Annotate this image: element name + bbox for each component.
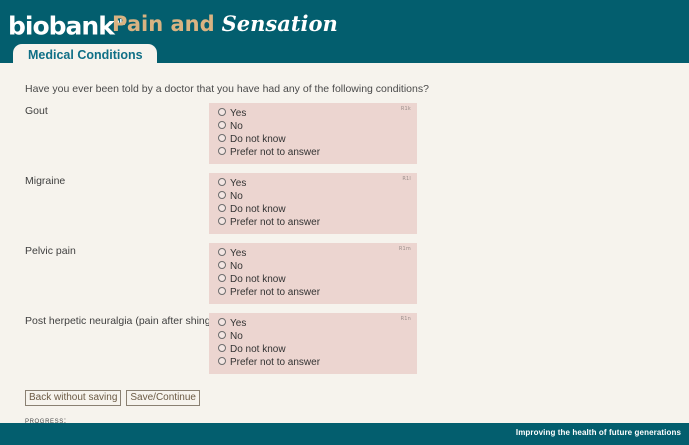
- radio-button-icon[interactable]: [218, 261, 226, 269]
- page-title-part1: Pain and: [112, 12, 215, 36]
- radio-option[interactable]: Prefer not to answer: [209, 146, 417, 159]
- back-without-saving-button[interactable]: Back without saving: [25, 390, 121, 406]
- radio-option-label: Do not know: [230, 204, 286, 215]
- radio-button-icon[interactable]: [218, 121, 226, 129]
- answer-options-group: R1kYesNoDo not knowPrefer not to answer: [209, 103, 417, 164]
- question-label: Migraine: [25, 175, 65, 187]
- radio-button-icon[interactable]: [218, 248, 226, 256]
- question-label: Post herpetic neuralgia (pain after shin…: [25, 315, 228, 327]
- page-title-part2: Sensation: [222, 11, 338, 36]
- footer-tagline: Improving the health of future generatio…: [516, 428, 681, 437]
- answer-options-group: R1nYesNoDo not knowPrefer not to answer: [209, 313, 417, 374]
- radio-option-label: Prefer not to answer: [230, 147, 320, 158]
- radio-button-icon[interactable]: [218, 178, 226, 186]
- radio-button-icon[interactable]: [218, 134, 226, 142]
- uk-biobank-logo: biobankuk: [8, 10, 125, 39]
- questionnaire-panel: Have you ever been told by a doctor that…: [0, 62, 689, 423]
- radio-option-label: Prefer not to answer: [230, 287, 320, 298]
- radio-option[interactable]: No: [209, 330, 417, 343]
- page-footer: Improving the health of future generatio…: [0, 423, 689, 445]
- radio-option[interactable]: No: [209, 190, 417, 203]
- radio-option[interactable]: Do not know: [209, 343, 417, 356]
- tab-label: Medical Conditions: [28, 48, 143, 62]
- answer-options-group: R1lYesNoDo not knowPrefer not to answer: [209, 173, 417, 234]
- answer-options-group: R1mYesNoDo not knowPrefer not to answer: [209, 243, 417, 304]
- radio-button-icon[interactable]: [218, 217, 226, 225]
- radio-option[interactable]: Yes: [209, 107, 417, 120]
- page-title: Pain andSensation: [112, 11, 338, 41]
- radio-option-label: Prefer not to answer: [230, 217, 320, 228]
- radio-button-icon[interactable]: [218, 191, 226, 199]
- radio-option[interactable]: Yes: [209, 177, 417, 190]
- radio-option-label: Do not know: [230, 274, 286, 285]
- radio-button-icon[interactable]: [218, 287, 226, 295]
- radio-button-icon[interactable]: [218, 318, 226, 326]
- question-label: Gout: [25, 105, 48, 117]
- radio-option[interactable]: Yes: [209, 247, 417, 260]
- radio-option-label: Do not know: [230, 344, 286, 355]
- radio-button-icon[interactable]: [218, 108, 226, 116]
- radio-option-label: Yes: [230, 318, 246, 329]
- radio-option[interactable]: Do not know: [209, 273, 417, 286]
- radio-option[interactable]: No: [209, 120, 417, 133]
- radio-option[interactable]: Prefer not to answer: [209, 216, 417, 229]
- radio-option-label: No: [230, 121, 243, 132]
- radio-option[interactable]: Yes: [209, 317, 417, 330]
- radio-option[interactable]: Prefer not to answer: [209, 286, 417, 299]
- logo-wordmark: biobank: [8, 11, 114, 40]
- radio-option[interactable]: Do not know: [209, 203, 417, 216]
- radio-button-icon[interactable]: [218, 274, 226, 282]
- radio-option-label: Yes: [230, 178, 246, 189]
- radio-button-icon[interactable]: [218, 357, 226, 365]
- radio-option-label: Do not know: [230, 134, 286, 145]
- intro-question-text: Have you ever been told by a doctor that…: [25, 83, 429, 95]
- form-buttons: Back without savingSave/Continue: [25, 390, 205, 406]
- save-continue-button[interactable]: Save/Continue: [126, 390, 200, 406]
- radio-option[interactable]: Prefer not to answer: [209, 356, 417, 369]
- radio-option-label: No: [230, 261, 243, 272]
- question-label: Pelvic pain: [25, 245, 76, 257]
- radio-button-icon[interactable]: [218, 147, 226, 155]
- radio-option-label: Yes: [230, 108, 246, 119]
- tab-medical-conditions[interactable]: Medical Conditions: [13, 44, 157, 66]
- radio-button-icon[interactable]: [218, 204, 226, 212]
- radio-option-label: Yes: [230, 248, 246, 259]
- radio-button-icon[interactable]: [218, 331, 226, 339]
- radio-option-label: Prefer not to answer: [230, 357, 320, 368]
- radio-button-icon[interactable]: [218, 344, 226, 352]
- radio-option[interactable]: Do not know: [209, 133, 417, 146]
- radio-option-label: No: [230, 191, 243, 202]
- radio-option[interactable]: No: [209, 260, 417, 273]
- radio-option-label: No: [230, 331, 243, 342]
